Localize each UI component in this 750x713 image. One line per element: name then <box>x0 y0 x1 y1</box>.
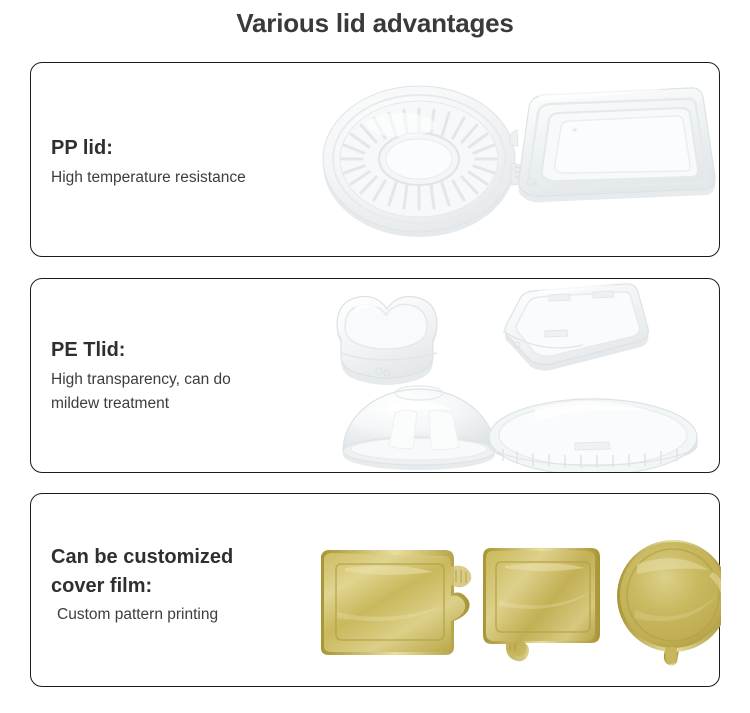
card-pp-lid: PP lid: High temperature resistance <box>30 62 720 257</box>
pp-lid-subtitle: High temperature resistance <box>51 166 311 190</box>
pp-lid-text-block: PP lid: High temperature resistance <box>51 137 311 190</box>
pe-lid-subtitle-line2: mildew treatment <box>51 392 311 416</box>
square-gold-foil-lid-image <box>483 548 600 661</box>
pe-lid-subtitle-line1: High transparency, can do <box>51 368 311 392</box>
square-pe-lid-image <box>503 284 648 371</box>
card-cover-film: Can be customized cover film: Custom pat… <box>30 493 720 687</box>
oval-pe-lid-image <box>489 399 697 472</box>
pe-lid-text-block: PE Tlid: High transparency, can do milde… <box>51 339 311 416</box>
cover-film-heading-line1: Can be customized <box>51 546 311 570</box>
pp-lid-product-images: ✶ <box>301 63 719 256</box>
svg-text:✶: ✶ <box>571 125 579 135</box>
cover-film-heading-line2: cover film: <box>51 575 311 599</box>
pe-lid-heading: PE Tlid: <box>51 339 311 363</box>
cover-film-product-images <box>301 494 719 686</box>
round-gold-foil-lid-image <box>617 540 721 666</box>
cover-film-text-block: Can be customized cover film: Custom pat… <box>51 546 311 627</box>
pp-lid-heading: PP lid: <box>51 137 311 161</box>
dome-pe-lid-image <box>343 386 495 470</box>
card-pe-lid: PE Tlid: High transparency, can do milde… <box>30 278 720 473</box>
cover-film-subtitle: Custom pattern printing <box>51 603 311 627</box>
round-pp-lid-image <box>323 86 529 237</box>
heart-pe-lid-image <box>337 297 437 386</box>
rectangular-pp-lid-image: ✶ <box>510 87 715 202</box>
rectangular-gold-foil-lid-image <box>321 550 471 655</box>
page-title: Various lid advantages <box>0 8 750 39</box>
pe-lid-product-images <box>301 279 719 472</box>
